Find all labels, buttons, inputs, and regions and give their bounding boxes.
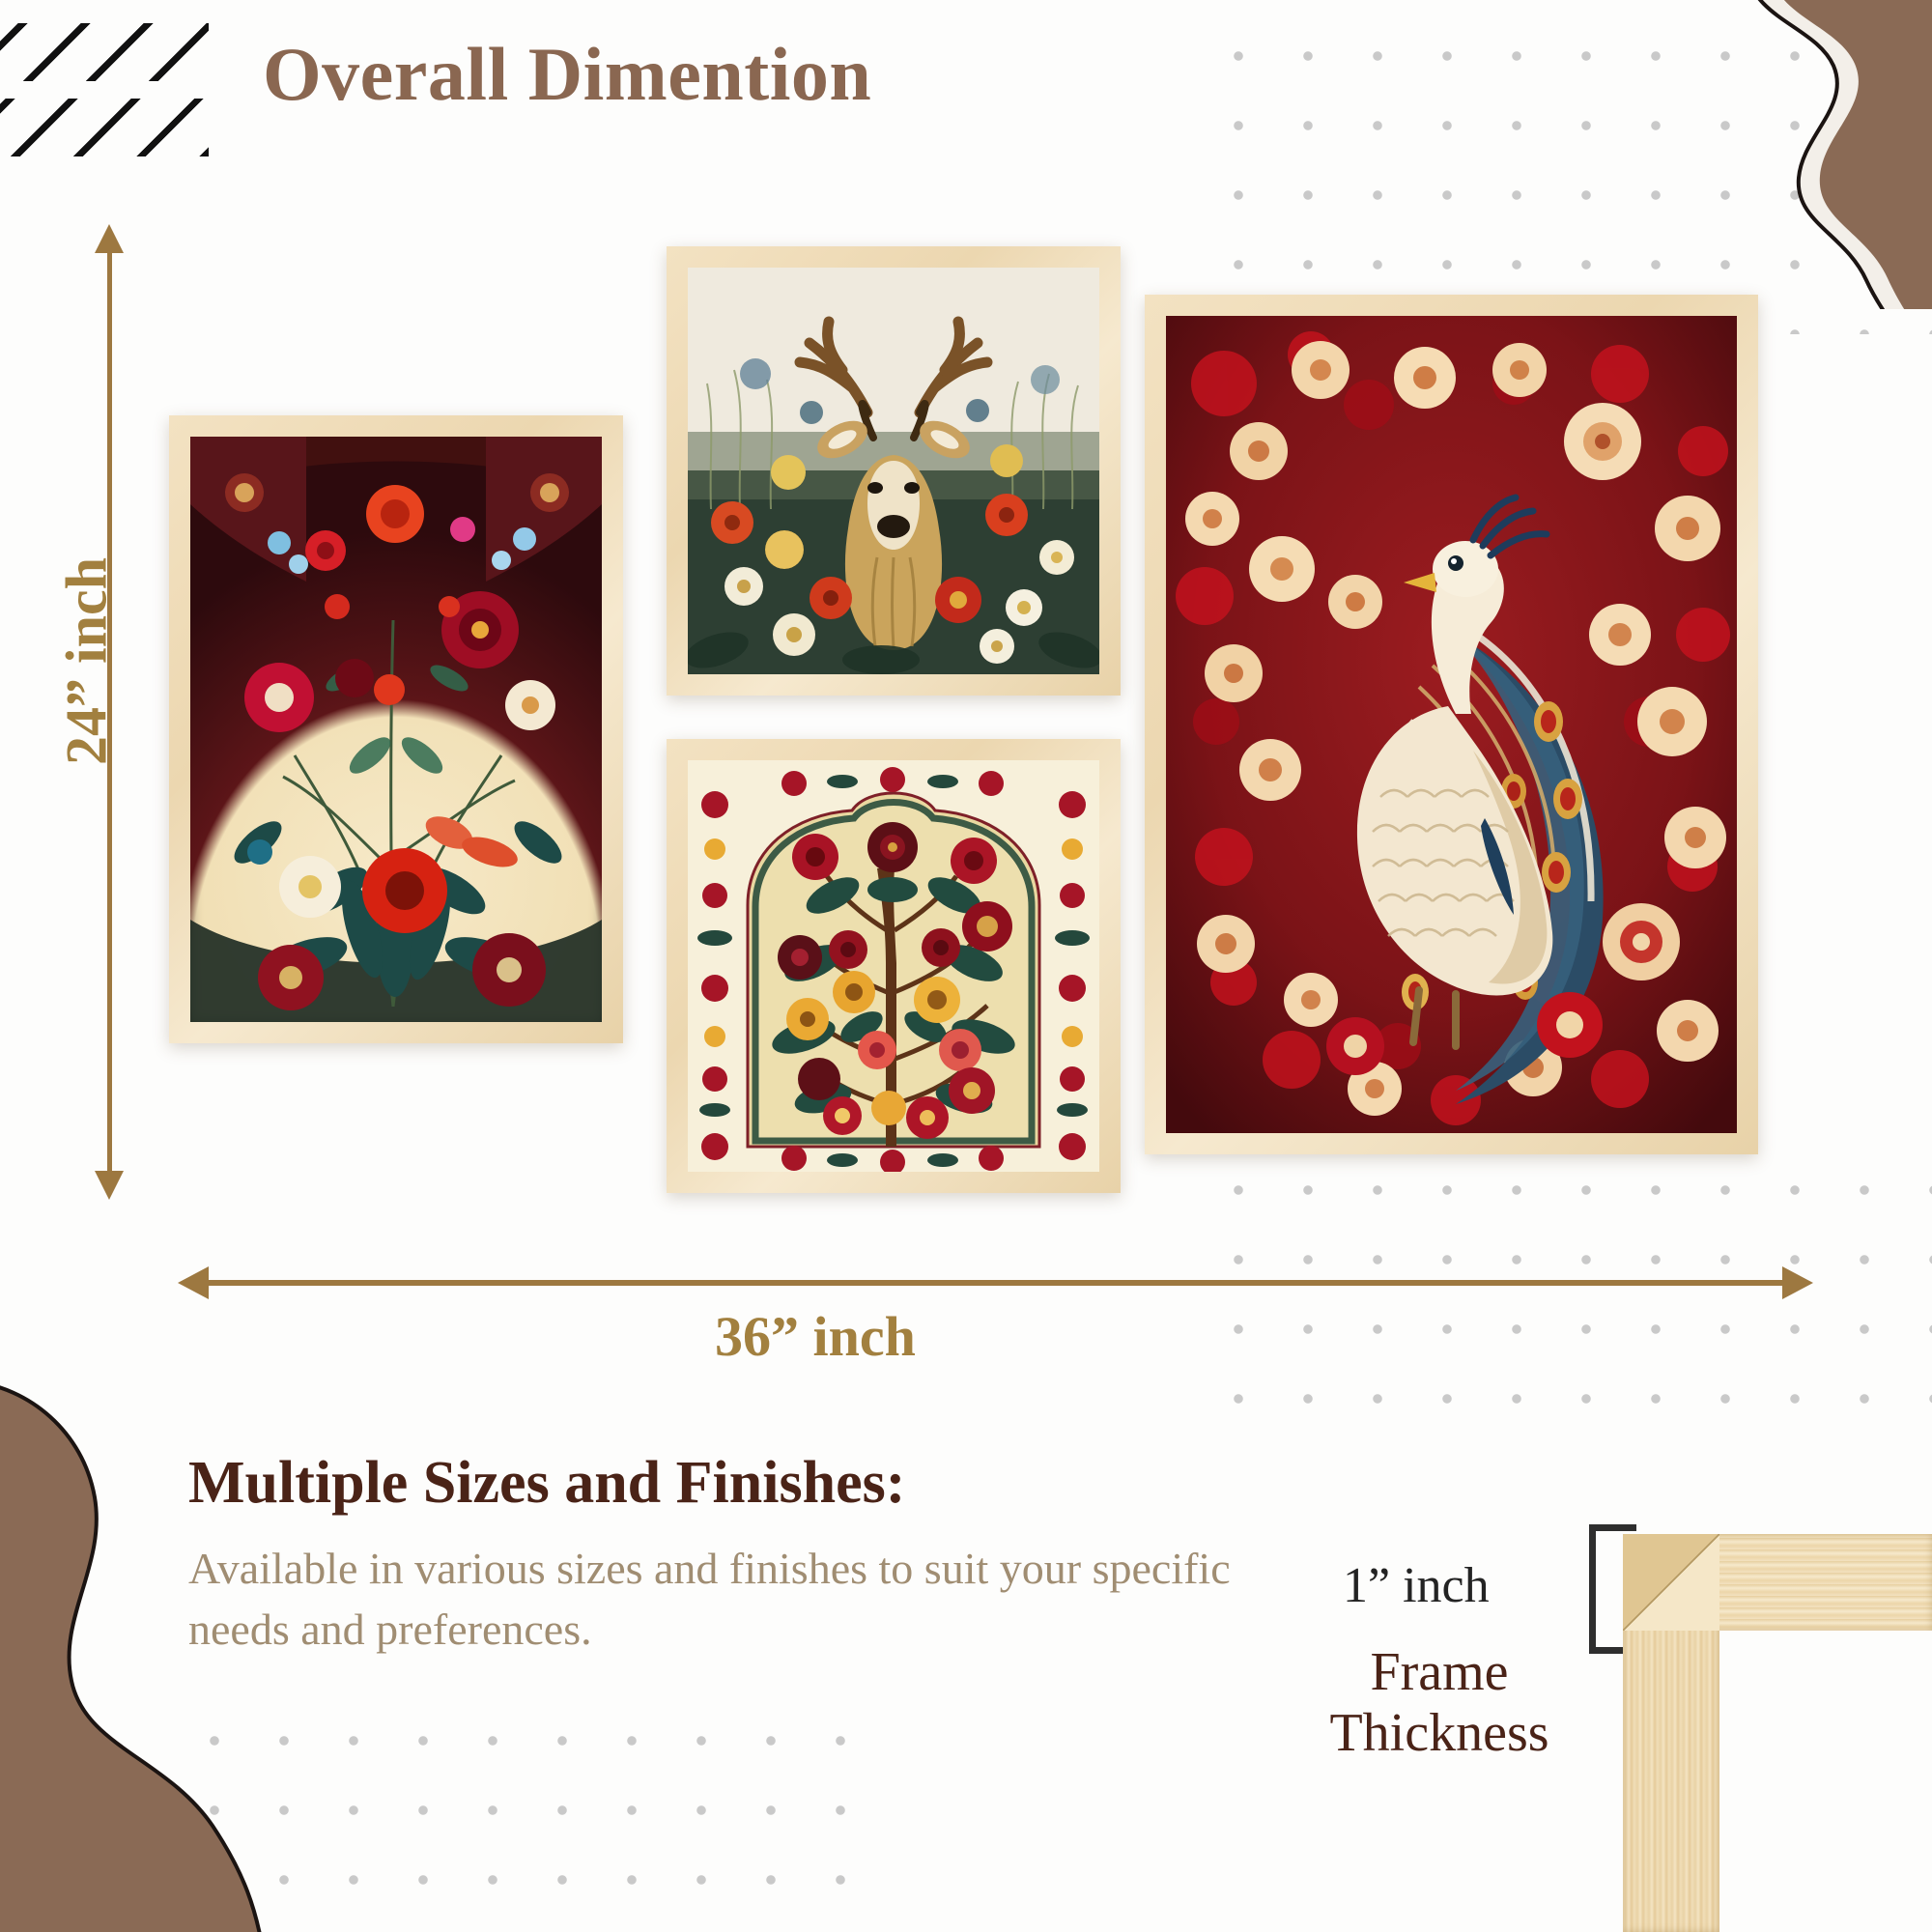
wood-miter-joint <box>1623 1534 1719 1631</box>
width-arrow-left-icon <box>178 1266 209 1299</box>
height-arrow-down-icon <box>95 1171 124 1200</box>
artwork-floral-bouquet <box>190 437 602 1022</box>
dot-grid-right-middle <box>1198 1150 1932 1439</box>
framed-art-deer-wildflowers[interactable] <box>667 246 1121 696</box>
framed-art-floral-bouquet[interactable] <box>169 415 623 1043</box>
wood-frame-corner-sample <box>1623 1534 1932 1932</box>
framed-art-tree-of-life[interactable] <box>667 739 1121 1193</box>
frame-thickness-label: Frame Thickness <box>1246 1642 1633 1763</box>
finishes-heading: Multiple Sizes and Finishes: <box>188 1449 905 1518</box>
artwork-peacock <box>1166 316 1737 1133</box>
height-dimension-label: 24” inch <box>54 536 121 787</box>
page-title: Overall Dimention <box>263 37 871 112</box>
finishes-body-text: Available in various sizes and finishes … <box>188 1538 1241 1661</box>
width-arrow-right-icon <box>1782 1266 1813 1299</box>
framed-art-peacock[interactable] <box>1145 295 1758 1154</box>
width-dimension-label: 36” inch <box>715 1304 916 1369</box>
width-dimension-line <box>203 1280 1787 1286</box>
frame-thickness-measure: 1” inch <box>1343 1557 1490 1614</box>
artwork-deer-wildflowers <box>688 268 1099 674</box>
artwork-tree-of-life <box>688 760 1099 1172</box>
height-arrow-up-icon <box>95 224 124 253</box>
frame-thickness-label-line1: Frame <box>1370 1642 1508 1702</box>
corner-blob-top-right <box>1526 0 1932 309</box>
infographic-canvas: Overall Dimention 24” inch 36” inch <box>0 0 1932 1932</box>
diagonal-hatch-lines-icon <box>0 21 209 156</box>
frame-thickness-label-line2: Thickness <box>1329 1703 1548 1763</box>
